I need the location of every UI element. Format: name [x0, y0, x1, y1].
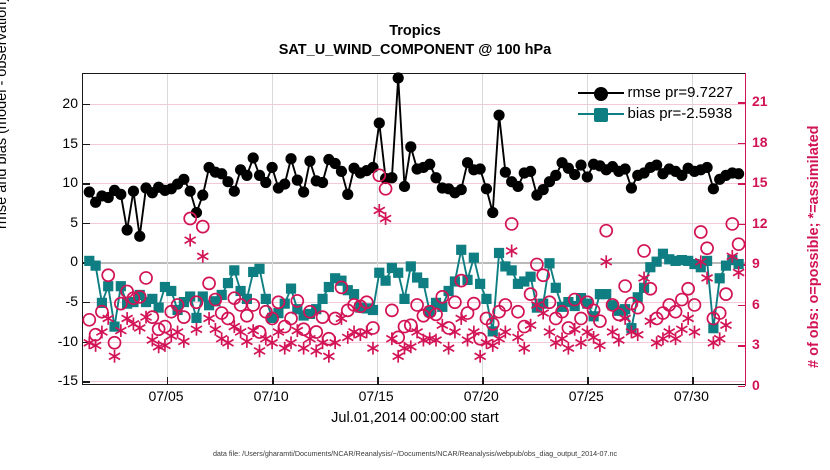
- legend-entry-rmse[interactable]: rmse pr=9.7227: [578, 82, 733, 103]
- legend-label-bias: bias pr=-2.5938: [628, 105, 733, 122]
- legend-marker-rmse: [578, 86, 624, 100]
- y-tick-right: [738, 386, 745, 387]
- y-tick-label-right: 21: [752, 93, 768, 109]
- x-axis-title: Jul.01,2014 00:00:00 start: [0, 410, 830, 426]
- x-tick-label: 07/10: [254, 388, 289, 404]
- y-tick-label-right: 9: [752, 255, 760, 271]
- x-tick-label: 07/20: [464, 388, 499, 404]
- chart-title-block: Tropics SAT_U_WIND_COMPONENT @ 100 hPa: [0, 22, 830, 60]
- x-tick-label: 07/05: [149, 388, 184, 404]
- chart-title-line2: SAT_U_WIND_COMPONENT @ 100 hPa: [0, 41, 830, 60]
- legend: rmse pr=9.7227 bias pr=-2.5938: [574, 80, 737, 126]
- series-circle-open: [83, 169, 744, 348]
- x-tick-label: 07/30: [674, 388, 709, 404]
- plot-area: rmse pr=9.7227 bias pr=-2.5938: [82, 73, 746, 385]
- y-tick-label-right: 6: [752, 296, 760, 312]
- legend-entry-bias[interactable]: bias pr=-2.5938: [578, 103, 733, 124]
- y-tick-label-right: 0: [752, 377, 760, 393]
- y-tick-label-right: 18: [752, 134, 768, 150]
- y-tick-label-left: -10: [58, 333, 78, 349]
- y-tick-label-left: 15: [62, 135, 78, 151]
- y-tick-label-left: 20: [62, 95, 78, 111]
- y-tick-label-right: 3: [752, 336, 760, 352]
- y-tick-label-left: 5: [70, 214, 78, 230]
- y-tick-label-left: 0: [70, 253, 78, 269]
- chart-title-line1: Tropics: [0, 22, 830, 41]
- y-axis-left-title: rmse and bias (model - observation): [0, 0, 10, 229]
- y-tick-label-left: 10: [62, 174, 78, 190]
- legend-label-rmse: rmse pr=9.7227: [628, 84, 733, 101]
- y-tick-label-right: 12: [752, 215, 768, 231]
- chart-figure: Tropics SAT_U_WIND_COMPONENT @ 100 hPa r…: [0, 0, 830, 470]
- legend-marker-bias: [578, 107, 624, 121]
- data-file-footer: data file: /Users/gharamti/Documents/NCA…: [0, 449, 830, 458]
- y-tick-label-left: -15: [58, 372, 78, 388]
- y-axis-right-title: # of obs: o=possible; *=assimilated: [806, 125, 822, 368]
- y-tick-label-right: 15: [752, 174, 768, 190]
- x-tick-label: 07/25: [569, 388, 604, 404]
- x-tick-label: 07/15: [359, 388, 394, 404]
- y-tick-label-left: -5: [66, 293, 78, 309]
